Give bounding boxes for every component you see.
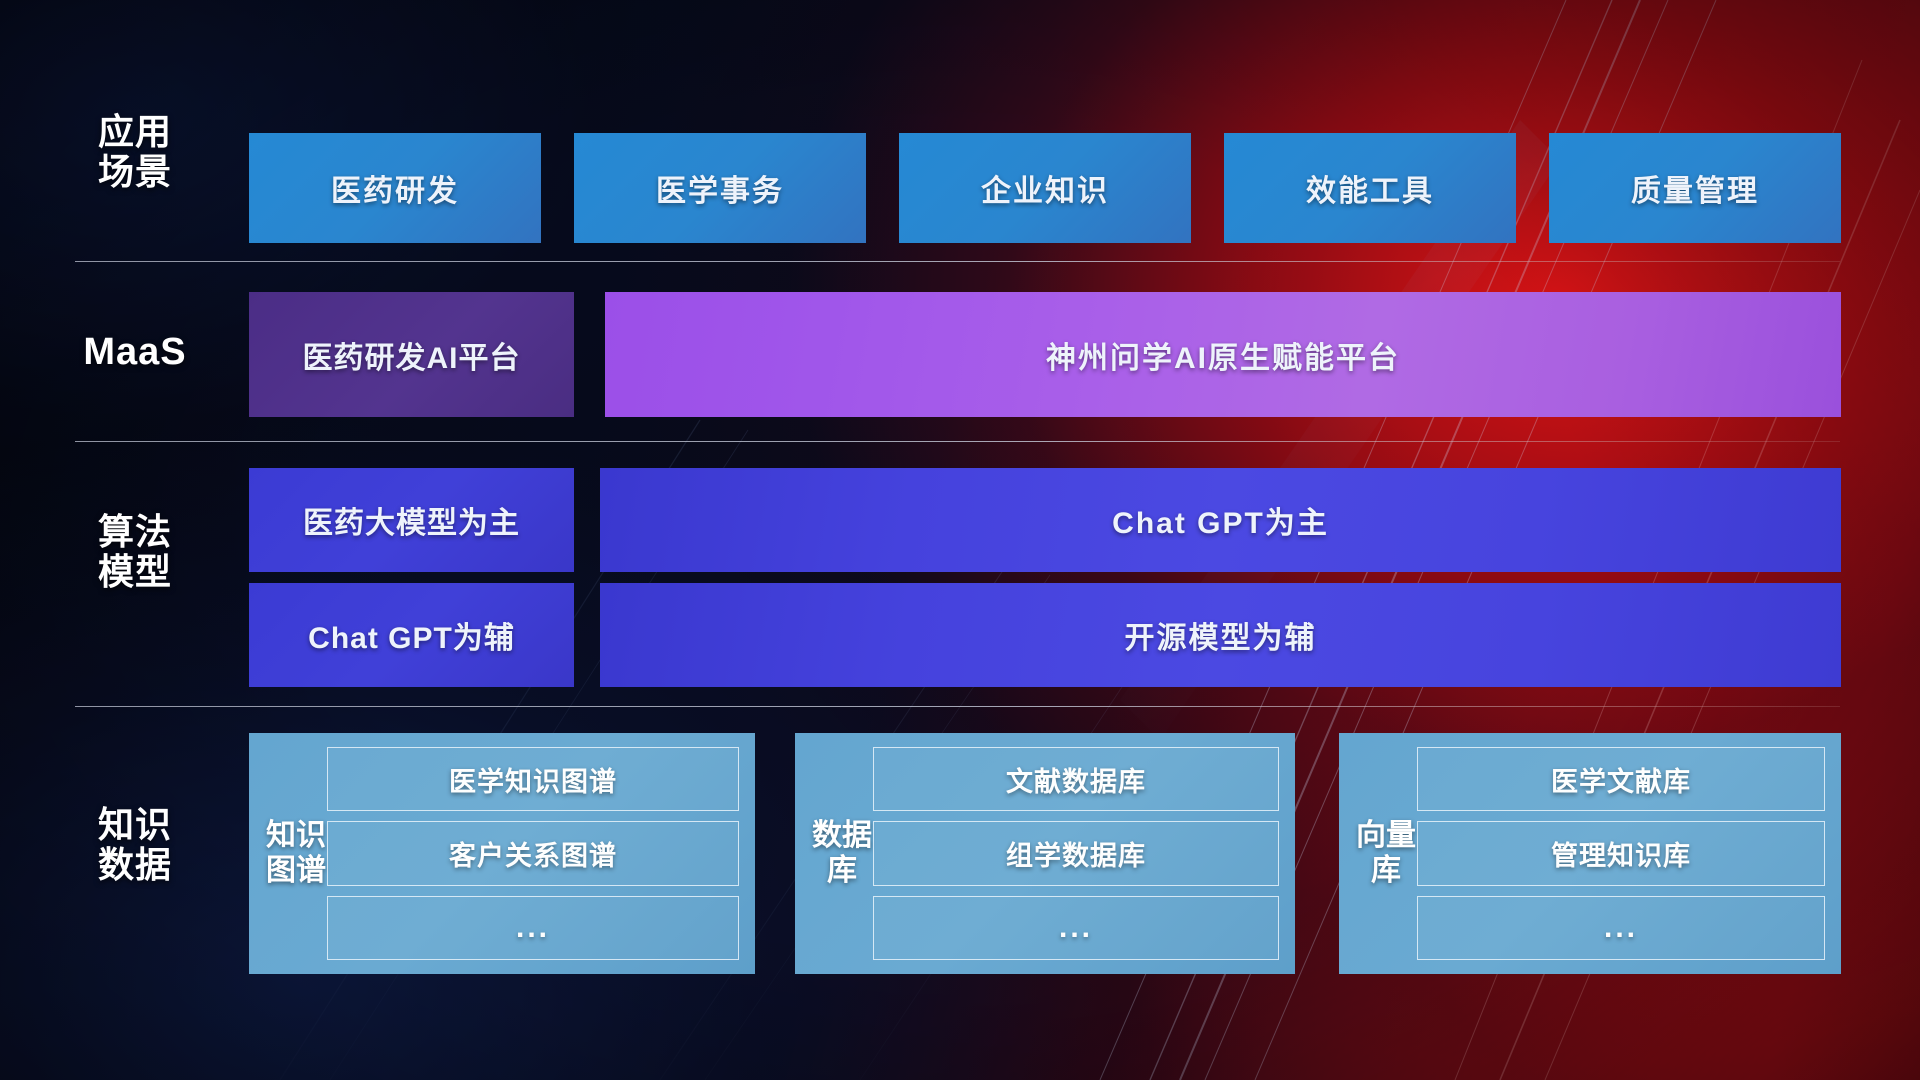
- row-label-line: 场景: [75, 152, 195, 192]
- row-label-line: 算法: [75, 512, 195, 552]
- row-label-line: 数据: [75, 845, 195, 885]
- knowledge-item-more[interactable]: ...: [1417, 896, 1825, 960]
- maas-box-label: 神州问学AI原生赋能平台: [1046, 333, 1400, 377]
- app-box-label: 医学事务: [656, 166, 784, 210]
- knowledge-item[interactable]: 医学文献库: [1417, 747, 1825, 811]
- row-label-maas: MaaS: [72, 331, 198, 374]
- row-label-algorithm-models: 算法 模型: [75, 512, 195, 593]
- row-label-application-scenarios: 应用 场景: [75, 112, 195, 193]
- algo-box-label: 医药大模型为主: [303, 498, 520, 542]
- app-box-quality-management[interactable]: 质量管理: [1549, 133, 1841, 243]
- algo-box-opensource-model-secondary[interactable]: 开源模型为辅: [600, 583, 1841, 687]
- algo-box-label: 开源模型为辅: [1125, 613, 1317, 657]
- knowledge-group-items: 医学文献库 管理知识库 ...: [1417, 743, 1825, 964]
- divider-tier1-tier2: [75, 261, 1840, 262]
- app-box-medical-affairs[interactable]: 医学事务: [574, 133, 866, 243]
- knowledge-group-label: 知识图谱: [265, 819, 327, 887]
- knowledge-group-items: 文献数据库 组学数据库 ...: [873, 743, 1279, 964]
- knowledge-item[interactable]: 医学知识图谱: [327, 747, 739, 811]
- algo-box-label: Chat GPT为辅: [308, 613, 515, 657]
- knowledge-group-database[interactable]: 数据库 文献数据库 组学数据库 ...: [795, 733, 1295, 974]
- row-label-line: 知识: [75, 805, 195, 845]
- row-label-line: MaaS: [72, 331, 198, 374]
- knowledge-item[interactable]: 组学数据库: [873, 821, 1279, 885]
- algo-box-label: Chat GPT为主: [1112, 498, 1329, 542]
- knowledge-item[interactable]: 管理知识库: [1417, 821, 1825, 885]
- app-box-enterprise-knowledge[interactable]: 企业知识: [899, 133, 1191, 243]
- knowledge-group-knowledge-graph[interactable]: 知识图谱 医学知识图谱 客户关系图谱 ...: [249, 733, 755, 974]
- divider-tier2-tier3: [75, 441, 1840, 442]
- app-box-label: 质量管理: [1631, 166, 1759, 210]
- app-box-efficiency-tools[interactable]: 效能工具: [1224, 133, 1516, 243]
- knowledge-item[interactable]: 客户关系图谱: [327, 821, 739, 885]
- maas-box-medicine-rnd-ai-platform[interactable]: 医药研发AI平台: [249, 292, 574, 417]
- knowledge-item[interactable]: 文献数据库: [873, 747, 1279, 811]
- app-box-medicine-rnd[interactable]: 医药研发: [249, 133, 541, 243]
- algo-box-chatgpt-primary[interactable]: Chat GPT为主: [600, 468, 1841, 572]
- row-label-knowledge-data: 知识 数据: [75, 805, 195, 886]
- algo-box-medicine-large-model-primary[interactable]: 医药大模型为主: [249, 468, 574, 572]
- app-box-label: 效能工具: [1306, 166, 1434, 210]
- maas-box-shenzhou-wenxue-platform[interactable]: 神州问学AI原生赋能平台: [605, 292, 1841, 417]
- knowledge-item-more[interactable]: ...: [873, 896, 1279, 960]
- knowledge-item-more[interactable]: ...: [327, 896, 739, 960]
- knowledge-group-vector-database[interactable]: 向量库 医学文献库 管理知识库 ...: [1339, 733, 1841, 974]
- algo-box-chatgpt-secondary[interactable]: Chat GPT为辅: [249, 583, 574, 687]
- knowledge-group-label: 向量库: [1355, 819, 1417, 887]
- architecture-diagram: 应用 场景 医药研发 医学事务 企业知识 效能工具 质量管理 MaaS 医药研发…: [0, 0, 1920, 1080]
- row-label-line: 模型: [75, 552, 195, 592]
- app-box-label: 企业知识: [981, 166, 1109, 210]
- app-box-label: 医药研发: [331, 166, 459, 210]
- divider-tier3-tier4: [75, 706, 1840, 707]
- maas-box-label: 医药研发AI平台: [303, 333, 521, 377]
- row-label-line: 应用: [75, 112, 195, 152]
- knowledge-group-items: 医学知识图谱 客户关系图谱 ...: [327, 743, 739, 964]
- knowledge-group-label: 数据库: [811, 819, 873, 887]
